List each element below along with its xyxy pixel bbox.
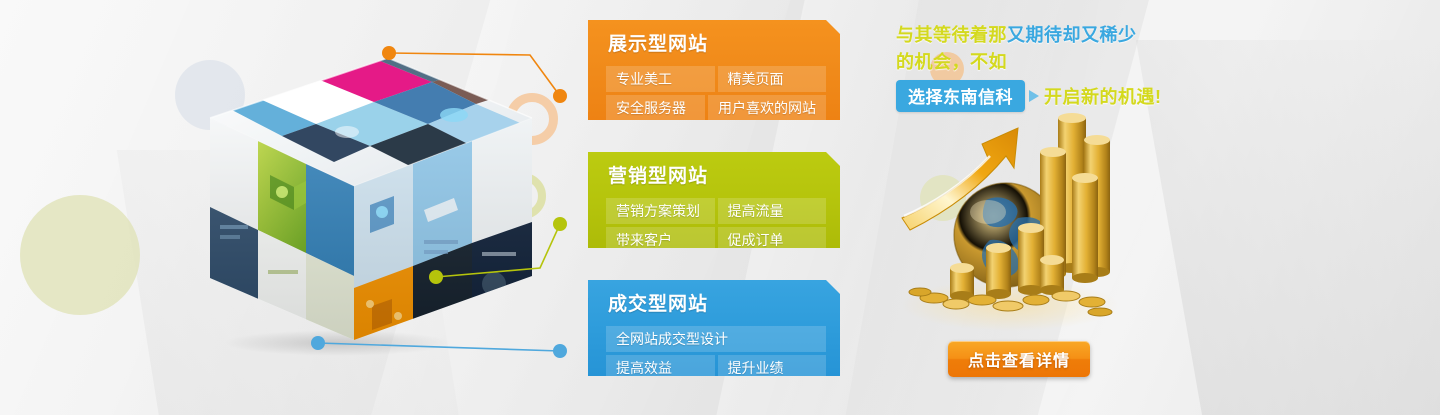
feature-cell[interactable]: 带来客户 [606,227,715,253]
feature-cell[interactable]: 全网站成交型设计 [606,326,826,352]
box-title: 展示型网站 [608,33,826,57]
box-feature-row: 安全服务器 用户喜欢的网站 [606,95,826,121]
copy-line-1-blue: 又期待却又稀少 [1007,25,1137,45]
box-feature-grid: 营销方案策划 提高流量 带来客户 促成订单 [606,198,826,253]
feature-cell[interactable]: 专业美工 [606,66,715,92]
box-pointer-notch [575,172,589,206]
box-pointer-notch [575,298,589,332]
box-title: 成交型网站 [608,293,826,317]
box-feature-grid: 专业美工 精美页面 安全服务器 用户喜欢的网站 [606,66,826,121]
copy-line-2: 的机会，不如 [896,49,1196,76]
decorative-circle [20,195,140,315]
orange-connector-dot-end [553,89,567,103]
copy-line-1-yellow: 与其等待着那 [896,25,1007,45]
info-box-showcase[interactable]: 展示型网站 专业美工 精美页面 安全服务器 用户喜欢的网站 [588,20,840,120]
view-details-button[interactable]: 点击查看详情 [948,341,1090,377]
box-feature-row: 全网站成交型设计 [606,326,826,352]
feature-cell[interactable]: 提高流量 [718,198,827,224]
box-title: 营销型网站 [608,165,826,189]
cube-svg [202,40,532,380]
box-feature-row: 专业美工 精美页面 [606,66,826,92]
info-box-conversion[interactable]: 成交型网站 全网站成交型设计 提高效益 提升业绩 [588,280,840,376]
website-photo-cube [202,40,532,370]
feature-cell[interactable]: 用户喜欢的网站 [708,95,826,121]
copy-line-1: 与其等待着那又期待却又稀少 [896,22,1196,49]
feature-cell[interactable]: 安全服务器 [606,95,705,121]
box-feature-row: 提高效益 提升业绩 [606,355,826,381]
growth-artwork [890,100,1120,335]
feature-cell[interactable]: 促成订单 [718,227,827,253]
feature-cell[interactable]: 提高效益 [606,355,715,381]
box-feature-grid: 全网站成交型设计 提高效益 提升业绩 [606,326,826,381]
growth-artwork-svg [890,100,1120,335]
feature-cell[interactable]: 提升业绩 [718,355,827,381]
feature-cell[interactable]: 精美页面 [718,66,827,92]
green-connector-dot-end [553,217,567,231]
blue-connector-dot-end [553,344,567,358]
marketing-copy: 与其等待着那又期待却又稀少 的机会，不如 选择东南信科 开启新的机遇! [896,22,1196,112]
box-pointer-notch [575,78,589,112]
box-feature-row: 带来客户 促成订单 [606,227,826,253]
feature-cell[interactable]: 营销方案策划 [606,198,715,224]
promo-banner: 展示型网站 专业美工 精美页面 安全服务器 用户喜欢的网站 营销型网站 营销方案… [0,0,1440,415]
info-box-marketing[interactable]: 营销型网站 营销方案策划 提高流量 带来客户 促成订单 [588,152,840,248]
box-feature-row: 营销方案策划 提高流量 [606,198,826,224]
